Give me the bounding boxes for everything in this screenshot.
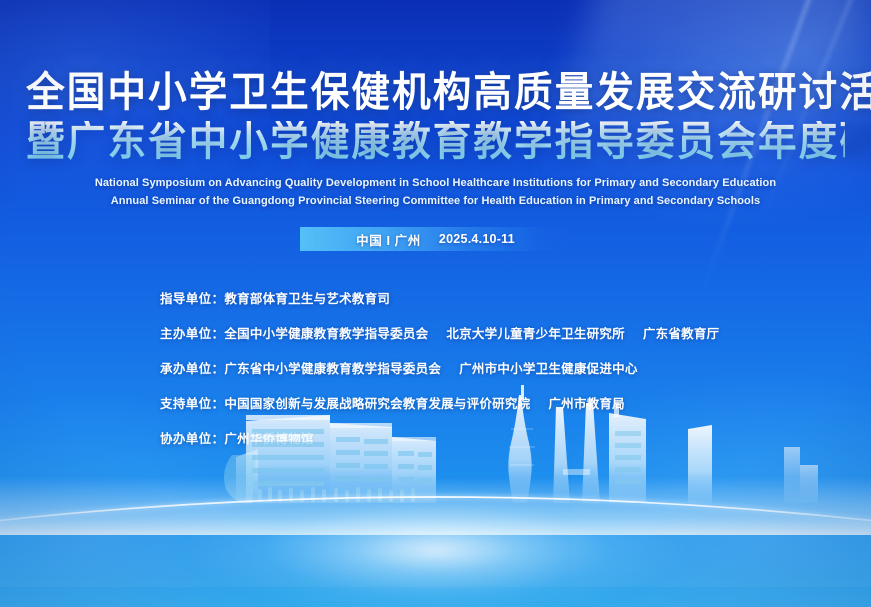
organizer-label: 协办单位： — [160, 428, 224, 447]
organizer-value: 全国中小学健康教育教学指导委员会 — [224, 323, 428, 342]
event-bar-container: 中国 I 广州 2025.4.10-11 — [0, 227, 871, 251]
horizon-glow — [116, 470, 756, 607]
organizer-values: 中国国家创新与发展战略研究会教育发展与评价研究院 广州市教育局 — [224, 393, 625, 412]
organizer-value: 北京大学儿童青少年卫生研究所 — [446, 323, 625, 342]
event-bar: 中国 I 广州 2025.4.10-11 — [300, 227, 572, 251]
subtitle-english-line2: Annual Seminar of the Guangdong Provinci… — [0, 193, 871, 210]
organizer-row-organizer: 承办单位： 广东省中小学健康教育教学指导委员会 广州市中小学卫生健康促进中心 — [160, 358, 719, 377]
organizer-row-host: 主办单位： 全国中小学健康教育教学指导委员会 北京大学儿童青少年卫生研究所 广东… — [160, 323, 719, 342]
organizer-row-guidance: 指导单位： 教育部体育卫生与艺术教育司 — [160, 288, 719, 307]
subtitle-english-line1: National Symposium on Advancing Quality … — [0, 175, 871, 192]
event-date: 2025.4.10-11 — [439, 232, 515, 246]
organizer-row-coorganizer: 协办单位： 广州华侨博物馆 — [160, 428, 719, 447]
organizer-value: 中国国家创新与发展战略研究会教育发展与评价研究院 — [224, 393, 530, 412]
organizer-row-support: 支持单位： 中国国家创新与发展战略研究会教育发展与评价研究院 广州市教育局 — [160, 393, 719, 412]
page-title-primary: 全国中小学卫生保健机构高质量发展交流研讨活动 — [26, 72, 845, 113]
organizer-label: 主办单位： — [160, 323, 224, 342]
organizer-value: 广东省教育厅 — [643, 323, 720, 342]
organizer-value: 广州市教育局 — [548, 393, 625, 412]
organizer-list: 指导单位： 教育部体育卫生与艺术教育司 主办单位： 全国中小学健康教育教学指导委… — [160, 288, 719, 463]
title-block: 全国中小学卫生保健机构高质量发展交流研讨活动 暨广东省中小学健康教育教学指导委员… — [0, 72, 871, 210]
block-tower-icon — [784, 447, 818, 503]
organizer-value: 广州市中小学卫生健康促进中心 — [459, 358, 638, 377]
organizer-label: 指导单位： — [160, 288, 224, 307]
page-title-secondary: 暨广东省中小学健康教育教学指导委员会年度研讨活动 — [26, 121, 845, 162]
organizer-label: 支持单位： — [160, 393, 224, 412]
organizer-values: 广州华侨博物馆 — [224, 428, 313, 447]
event-place: 中国 I 广州 — [356, 230, 421, 249]
organizer-label: 承办单位： — [160, 358, 224, 377]
organizer-values: 广东省中小学健康教育教学指导委员会 广州市中小学卫生健康促进中心 — [224, 358, 637, 377]
organizer-values: 全国中小学健康教育教学指导委员会 北京大学儿童青少年卫生研究所 广东省教育厅 — [224, 323, 719, 342]
organizer-value: 广东省中小学健康教育教学指导委员会 — [224, 358, 441, 377]
organizer-values: 教育部体育卫生与艺术教育司 — [224, 288, 390, 307]
conference-poster: 全国中小学卫生保健机构高质量发展交流研讨活动 暨广东省中小学健康教育教学指导委员… — [0, 0, 871, 607]
organizer-value: 教育部体育卫生与艺术教育司 — [224, 288, 390, 307]
horizon-arc — [0, 467, 871, 587]
organizer-value: 广州华侨博物馆 — [224, 428, 313, 447]
